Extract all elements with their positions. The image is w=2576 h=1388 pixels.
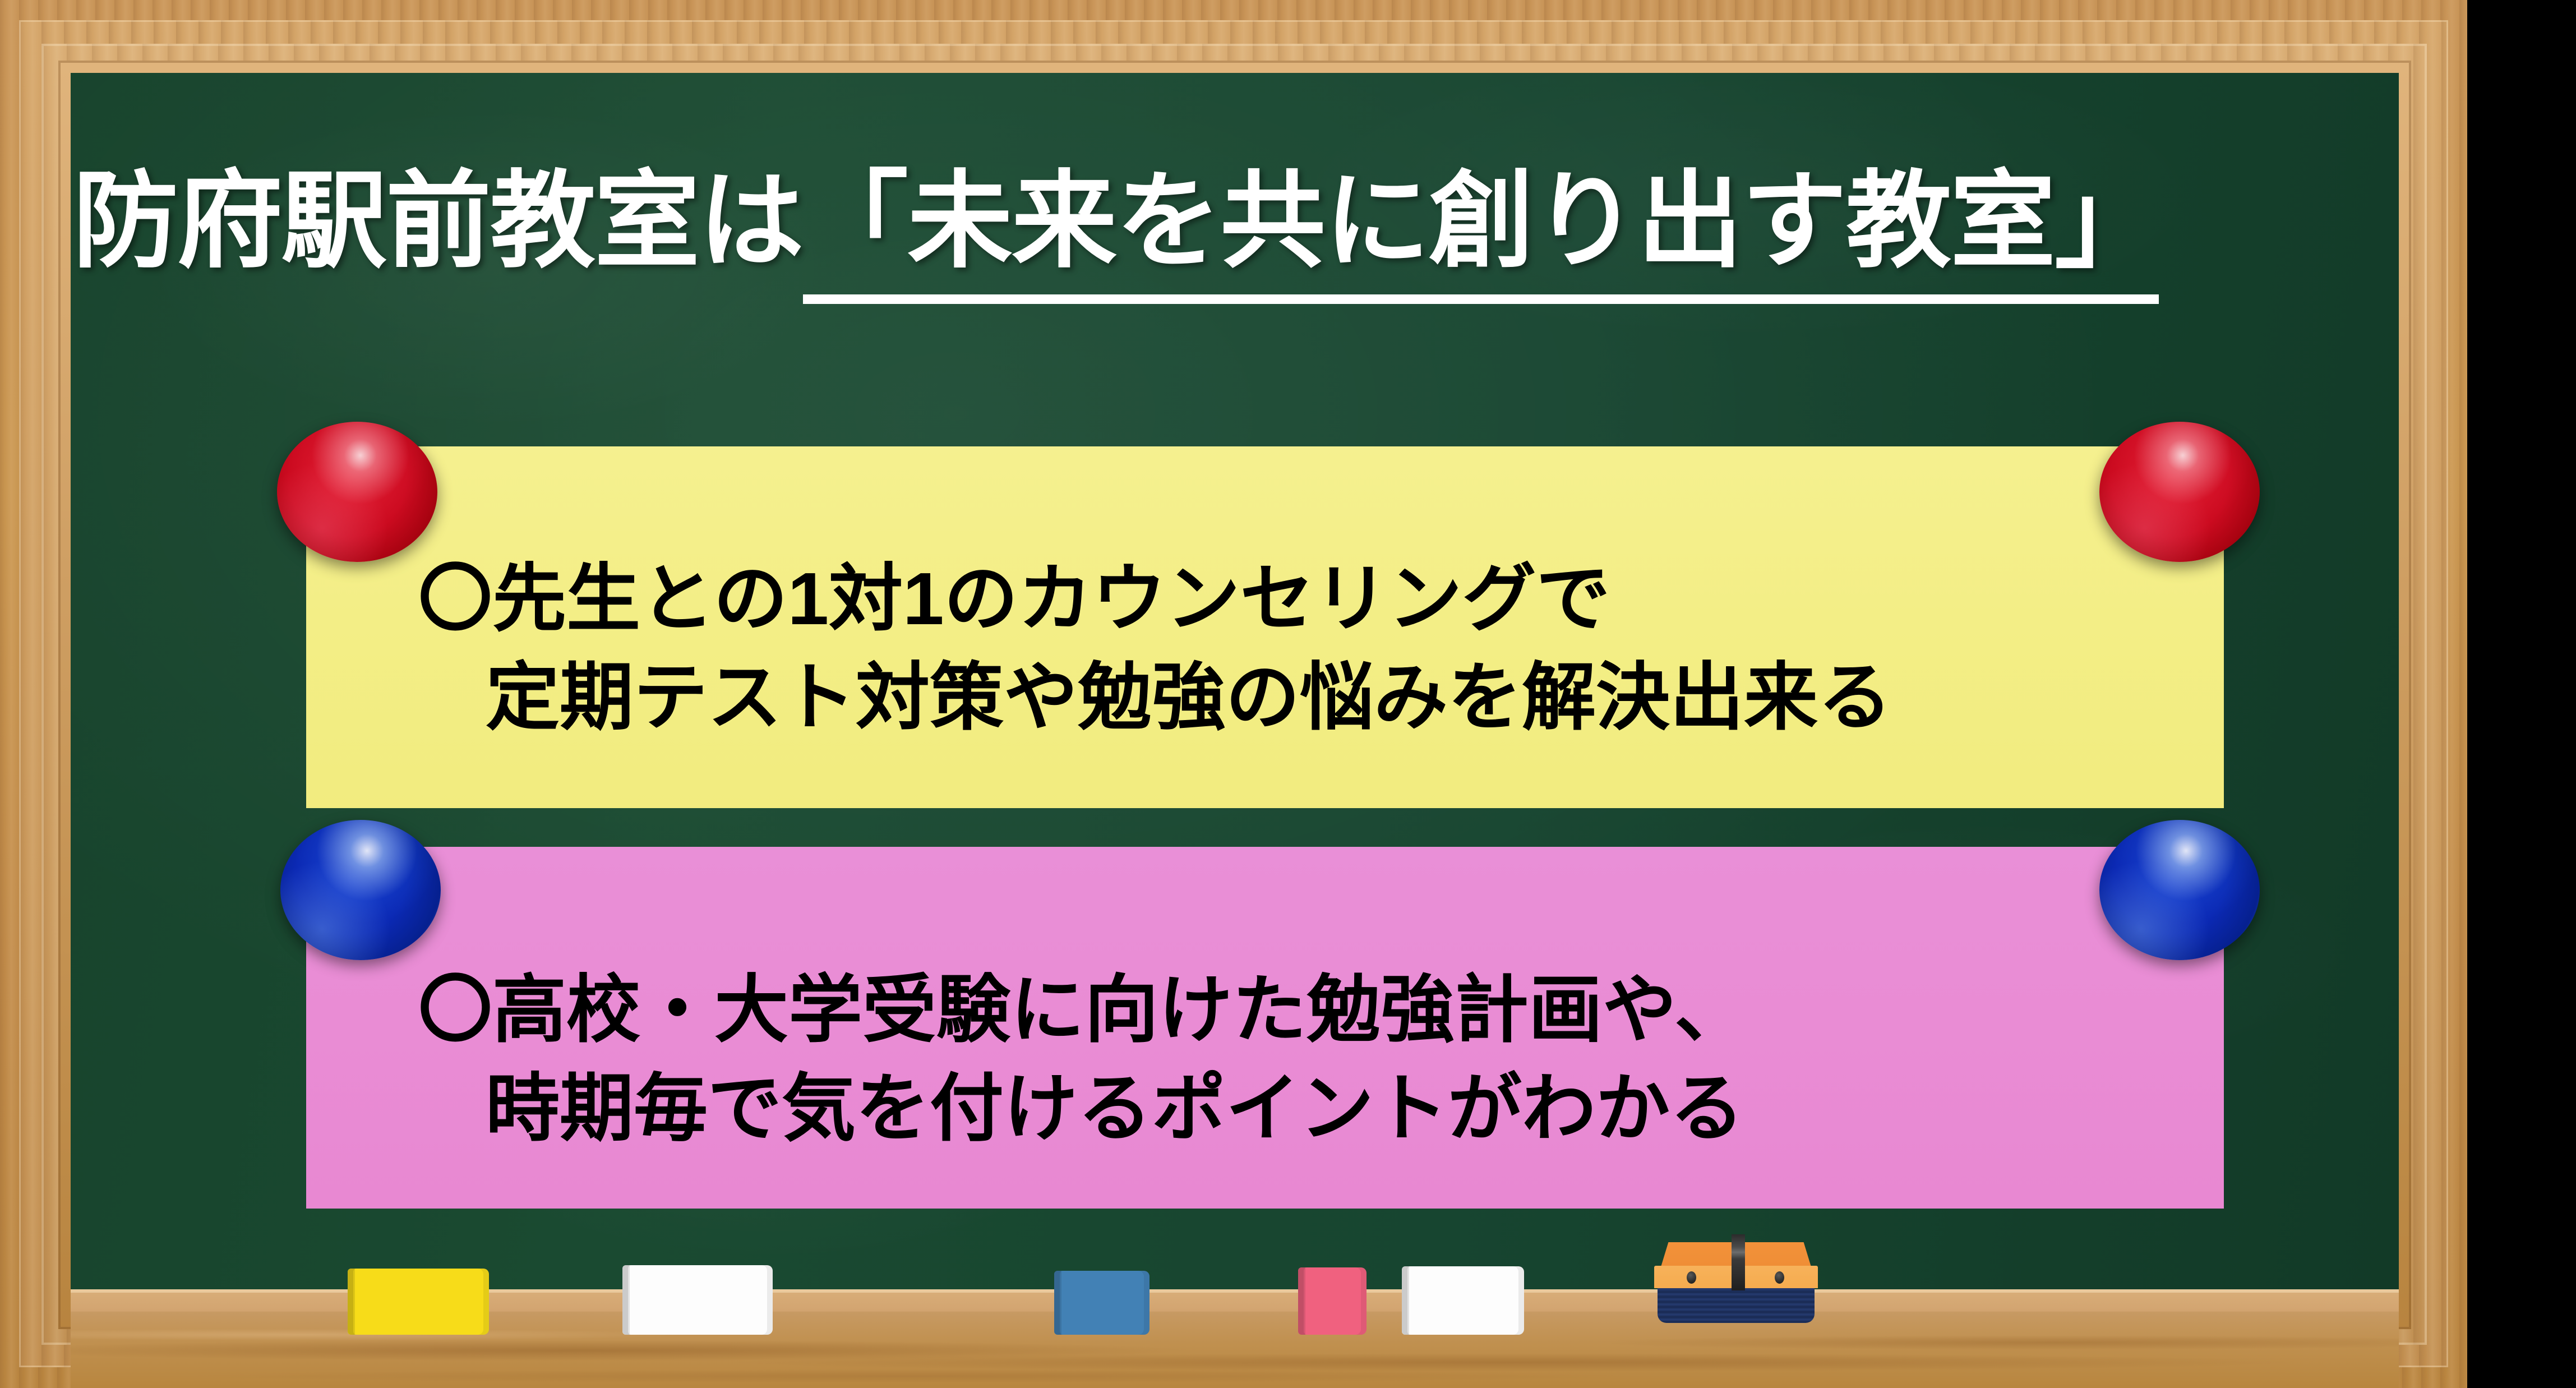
page-title-emphasis: 「未来を共に創り出す教室」 (803, 162, 2159, 304)
page-title: 防府駅前教室は「未来を共に創り出す教室」 (73, 168, 2338, 274)
magnet-blue-left (280, 820, 441, 960)
panel-counseling: 〇先生との1対1のカウンセリングで 定期テスト対策や勉強の悩みを解決出来る (306, 446, 2224, 808)
right-gutter (2467, 0, 2576, 1388)
eraser-stud-right (1775, 1271, 1784, 1284)
panel-counseling-line-2: 定期テスト対策や勉強の悩みを解決出来る (306, 648, 2224, 747)
chalk-pink[interactable] (1298, 1267, 1367, 1335)
magnet-red-left (277, 422, 437, 562)
panel-exam-plan-line-1: 〇高校・大学受験に向けた勉強計画や、 (306, 961, 2224, 1059)
eraser-felt-base (1658, 1288, 1815, 1323)
chalk-white-2[interactable] (1402, 1266, 1524, 1335)
eraser-stud-left (1687, 1271, 1696, 1284)
panel-exam-plan-line-2: 時期毎で気を付けるポイントがわかる (306, 1059, 2224, 1158)
page-title-prefix: 防府駅前教室は (73, 162, 803, 280)
panel-exam-plan: 〇高校・大学受験に向けた勉強計画や、 時期毎で気を付けるポイントがわかる (306, 847, 2224, 1209)
magnet-blue-right (2099, 820, 2260, 960)
chalk-blue[interactable] (1054, 1271, 1149, 1335)
chalkboard-slide: 防府駅前教室は「未来を共に創り出す教室」 〇先生との1対1のカウンセリングで 定… (0, 0, 2576, 1388)
chalk-yellow[interactable] (348, 1269, 489, 1335)
blackboard-eraser[interactable] (1654, 1242, 1818, 1326)
eraser-strap (1732, 1234, 1745, 1290)
magnet-red-right (2099, 422, 2260, 562)
chalk-white-1[interactable] (622, 1265, 773, 1335)
panel-counseling-line-1: 〇先生との1対1のカウンセリングで (306, 550, 2224, 648)
